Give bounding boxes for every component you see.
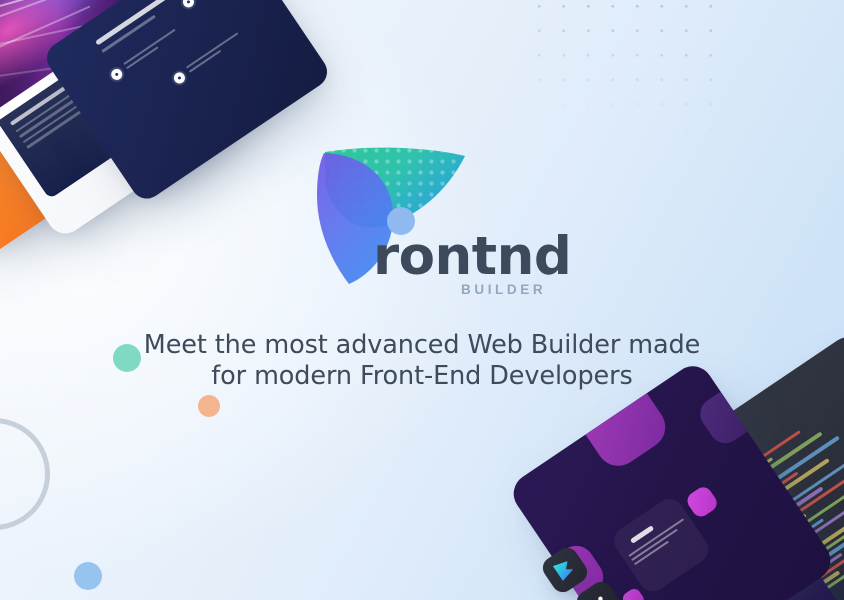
mint-circle-icon [113,344,141,372]
brand-logo: rontnd BUILDER [305,134,545,306]
check-dot-icon [181,0,196,10]
dot-grid-pattern-icon [527,0,727,130]
decor-square [620,586,646,600]
check-dot-icon [172,70,187,85]
dots-glyph-icon [589,593,610,600]
hero-banner: rontnd BUILDER Meet the most advanced We… [0,0,844,600]
peach-circle-icon [198,395,220,417]
tagline-line-1: Meet the most advanced Web Builder made [144,330,700,360]
brand-wordmark: rontnd [373,230,571,283]
decor-square [684,484,720,520]
ring-outline-icon [0,418,50,530]
feature-item [172,32,244,85]
feature-item [181,0,253,10]
blue-circle-icon [74,562,102,590]
prism-glyph-icon [553,558,576,581]
check-dot-icon [109,67,124,82]
brand-subtitle: BUILDER [461,282,546,297]
